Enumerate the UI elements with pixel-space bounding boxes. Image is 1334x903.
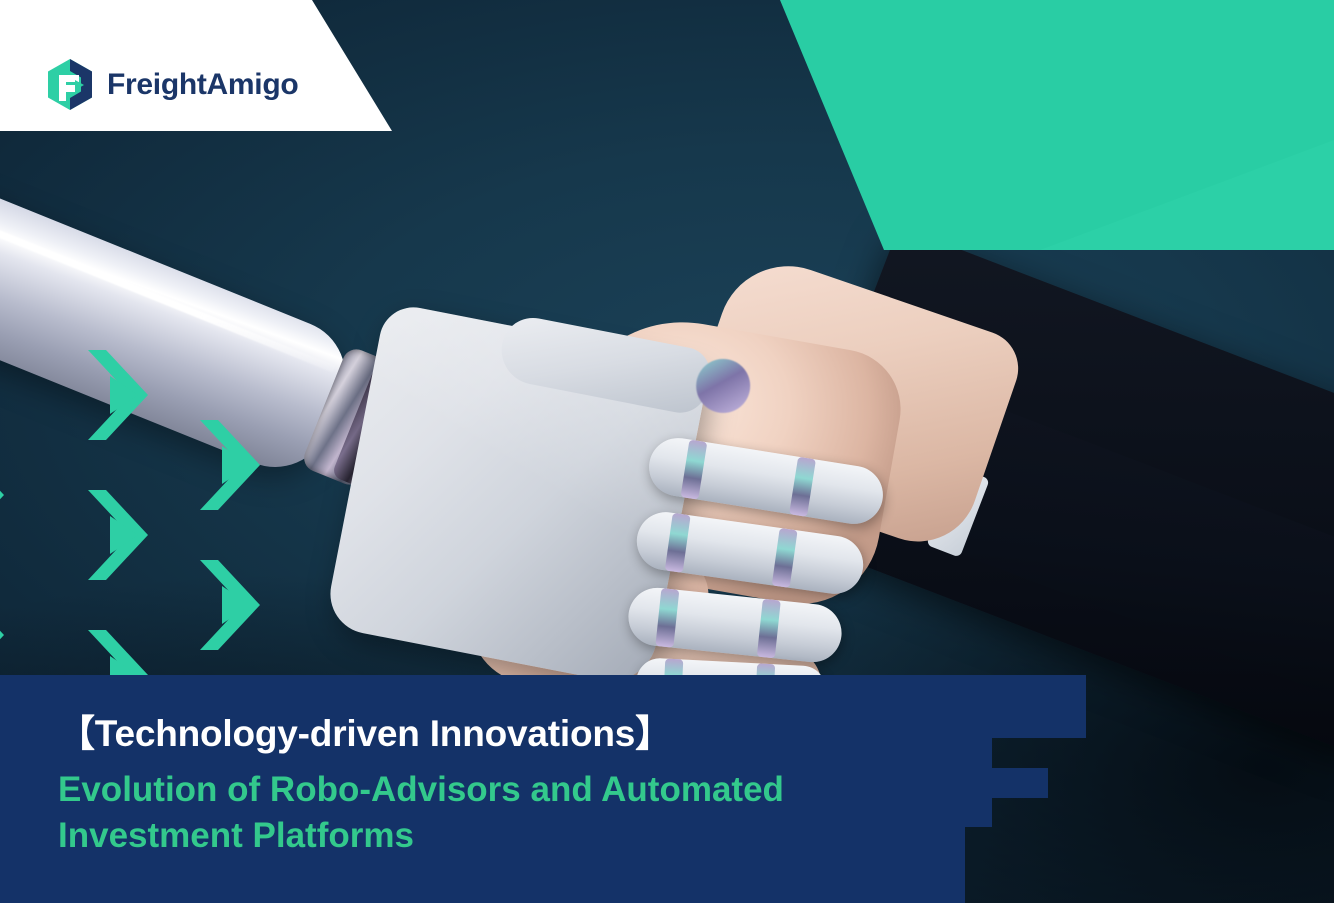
robot-knuckle — [680, 440, 707, 500]
robot-knuckle — [757, 599, 781, 659]
robot-knuckle — [655, 588, 679, 648]
robot-knuckle — [772, 528, 798, 588]
brand-wordmark: FreightAmigo — [107, 70, 298, 100]
robot-knuckle — [665, 513, 691, 573]
brand-logo[interactable]: FreightAmigo — [46, 58, 298, 111]
headline-bracketed: 【Technology-driven Innovations】 — [58, 713, 978, 756]
banner-canvas: FreightAmigo 【Technology-driven Innovati… — [0, 0, 1334, 903]
headline-subtitle-line-1: Evolution of Robo-Advisors and Automated — [58, 767, 958, 814]
title-block: 【Technology-driven Innovations】 Evolutio… — [58, 713, 978, 860]
robot-knuckle — [789, 457, 816, 517]
freightamigo-hexagon-logo-icon — [46, 58, 94, 111]
headline-subtitle: Evolution of Robo-Advisors and Automated… — [58, 767, 958, 860]
headline-subtitle-line-2: Investment Platforms — [58, 813, 958, 860]
